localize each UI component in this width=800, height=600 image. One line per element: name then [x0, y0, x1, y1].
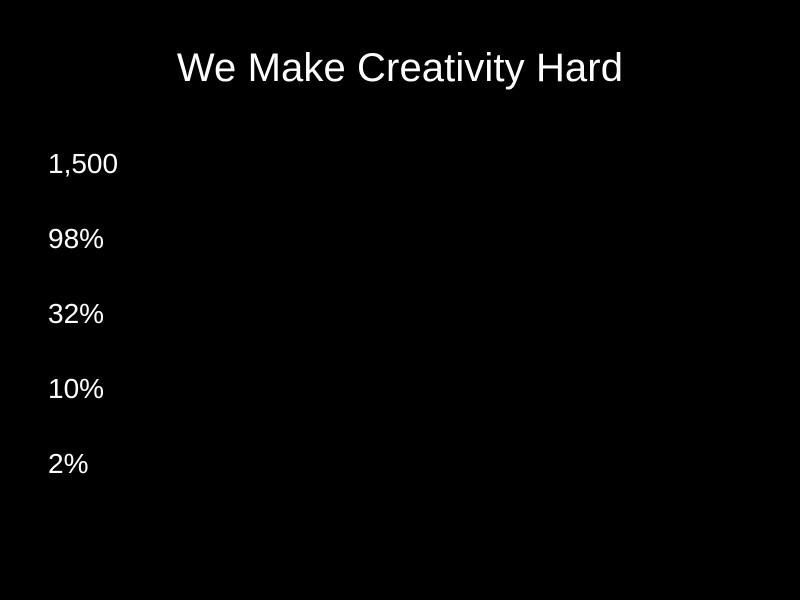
- list-item: 2%: [48, 446, 118, 521]
- stat-value: 10%: [48, 373, 104, 404]
- page-title: We Make Creativity Hard: [0, 48, 800, 88]
- list-item: 32%: [48, 296, 118, 371]
- list-item: 10%: [48, 371, 118, 446]
- list-item: 98%: [48, 221, 118, 296]
- statistics-list: 1,500 98% 32% 10% 2%: [48, 146, 118, 521]
- stat-value: 1,500: [48, 148, 118, 179]
- list-item: 1,500: [48, 146, 118, 221]
- stat-value: 98%: [48, 223, 104, 254]
- stat-value: 2%: [48, 448, 88, 479]
- presentation-slide: We Make Creativity Hard 1,500 98% 32% 10…: [0, 0, 800, 600]
- stat-value: 32%: [48, 298, 104, 329]
